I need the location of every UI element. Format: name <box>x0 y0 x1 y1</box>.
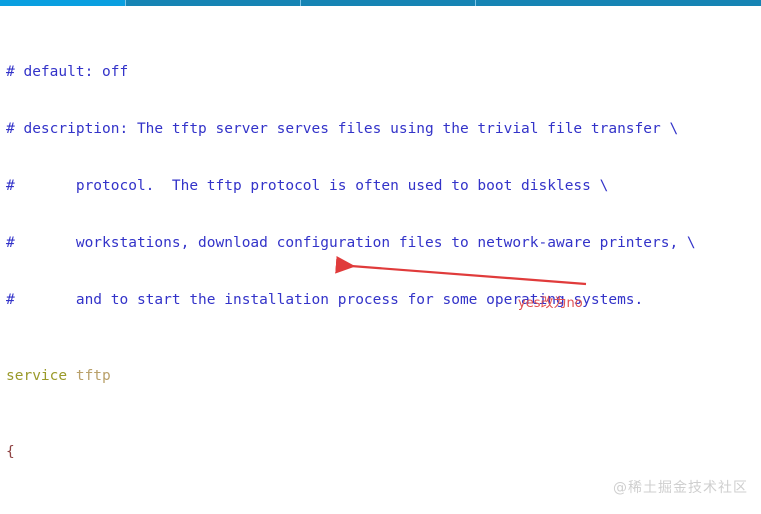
comment-line-4: # workstations, download configuration f… <box>0 234 761 253</box>
comment-line-5: # and to start the installation process … <box>0 291 761 310</box>
watermark: @稀土掘金技术社区 <box>613 477 748 497</box>
comment-line-3: # protocol. The tftp protocol is often u… <box>0 177 761 196</box>
comment-text: # protocol. The tftp protocol is often u… <box>6 178 608 194</box>
annotation-label: yes改为no <box>518 292 583 311</box>
service-declaration-line: service tftp <box>0 367 761 386</box>
comment-line-1: # default: off <box>0 63 761 82</box>
open-brace-line: { <box>0 443 761 462</box>
comment-text: # default: off <box>6 64 128 80</box>
comment-line-2: # description: The tftp server serves fi… <box>0 120 761 139</box>
vim-editor-buffer[interactable]: # default: off # description: The tftp s… <box>0 6 761 514</box>
open-brace: { <box>6 444 15 460</box>
service-keyword: service <box>6 368 67 384</box>
comment-text: # workstations, download configuration f… <box>6 235 696 251</box>
space <box>67 368 76 384</box>
terminal-screenshot: # default: off # description: The tftp s… <box>0 0 761 514</box>
comment-text: # description: The tftp server serves fi… <box>6 121 678 137</box>
service-name: tftp <box>76 368 111 384</box>
